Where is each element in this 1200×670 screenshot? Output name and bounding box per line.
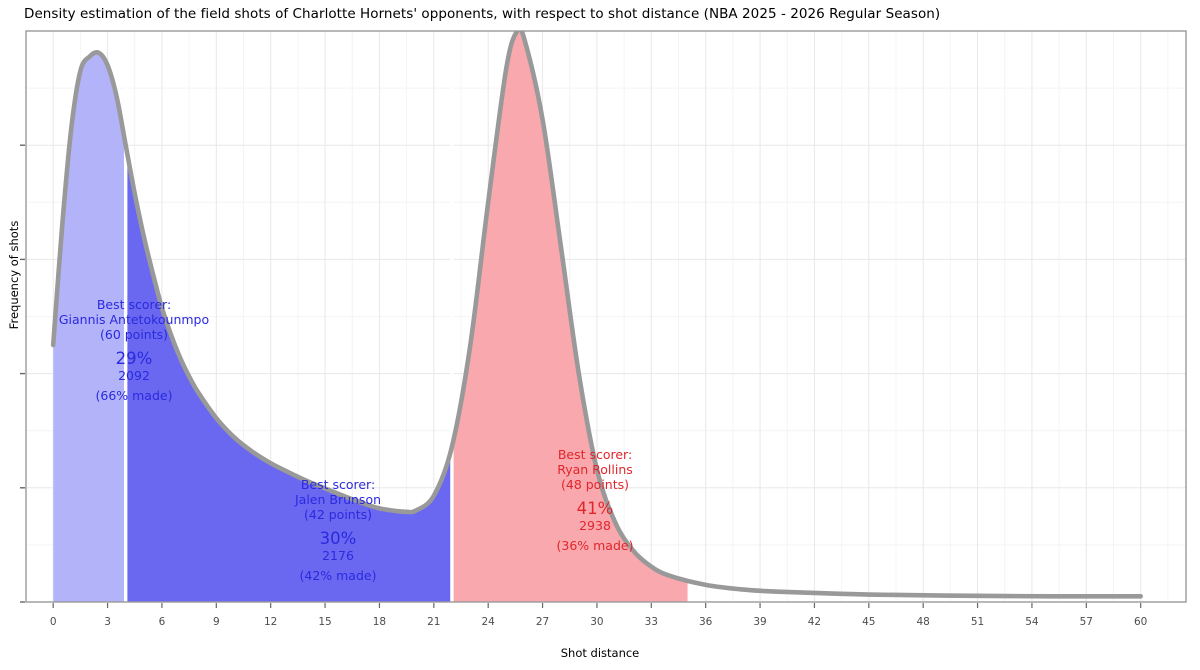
x-tick-label: 60 <box>1134 616 1147 628</box>
x-tick-label: 54 <box>1025 616 1039 628</box>
annotation-midrange-scorer-name: Jalen Brunson <box>218 493 458 508</box>
annotation-threepoint-scorer-name: Ryan Rollins <box>475 463 715 478</box>
x-axis-ticks: 03691215182124273033363942454851545760 <box>50 603 1148 628</box>
annotation-threepoint-count: 2938 <box>475 519 715 534</box>
annotation-paint-scorer-points: (60 points) <box>14 328 254 343</box>
annotation-midrange-made: (42% made) <box>218 569 458 584</box>
x-tick-label: 12 <box>264 616 277 628</box>
annotation-paint: Best scorer: Giannis Antetokounmpo (60 p… <box>14 298 254 404</box>
x-tick-label: 48 <box>917 616 930 628</box>
annotation-threepoint-percentage: 41% <box>475 499 715 518</box>
annotation-midrange-count: 2176 <box>218 549 458 564</box>
annotation-paint-count: 2092 <box>14 369 254 384</box>
x-tick-label: 51 <box>971 616 984 628</box>
x-tick-label: 24 <box>482 616 496 628</box>
annotation-paint-made: (66% made) <box>14 389 254 404</box>
x-tick-label: 45 <box>862 616 875 628</box>
annotation-midrange-scorer-points: (42 points) <box>218 508 458 523</box>
annotation-threepoint: Best scorer: Ryan Rollins (48 points) 41… <box>475 448 715 554</box>
x-tick-label: 18 <box>373 616 386 628</box>
annotation-threepoint-scorer-title: Best scorer: <box>475 448 715 463</box>
x-tick-label: 42 <box>808 616 821 628</box>
annotation-midrange: Best scorer: Jalen Brunson (42 points) 3… <box>218 478 458 584</box>
x-tick-label: 21 <box>427 616 440 628</box>
x-tick-label: 36 <box>699 616 713 628</box>
x-tick-label: 3 <box>104 616 111 628</box>
x-tick-label: 9 <box>213 616 220 628</box>
annotation-paint-scorer-title: Best scorer: <box>14 298 254 313</box>
x-tick-label: 27 <box>536 616 549 628</box>
x-tick-label: 57 <box>1080 616 1093 628</box>
x-tick-label: 30 <box>590 616 603 628</box>
annotation-threepoint-scorer-points: (48 points) <box>475 478 715 493</box>
x-tick-label: 39 <box>753 616 766 628</box>
annotation-midrange-scorer-title: Best scorer: <box>218 478 458 493</box>
density-chart: Density estimation of the field shots of… <box>0 0 1200 670</box>
annotation-threepoint-made: (36% made) <box>475 539 715 554</box>
annotation-paint-scorer-name: Giannis Antetokounmpo <box>14 313 254 328</box>
x-tick-label: 15 <box>318 616 331 628</box>
annotation-midrange-percentage: 30% <box>218 529 458 548</box>
x-tick-label: 0 <box>50 616 57 628</box>
x-tick-label: 6 <box>159 616 166 628</box>
x-tick-label: 33 <box>645 616 658 628</box>
annotation-paint-percentage: 29% <box>14 349 254 368</box>
